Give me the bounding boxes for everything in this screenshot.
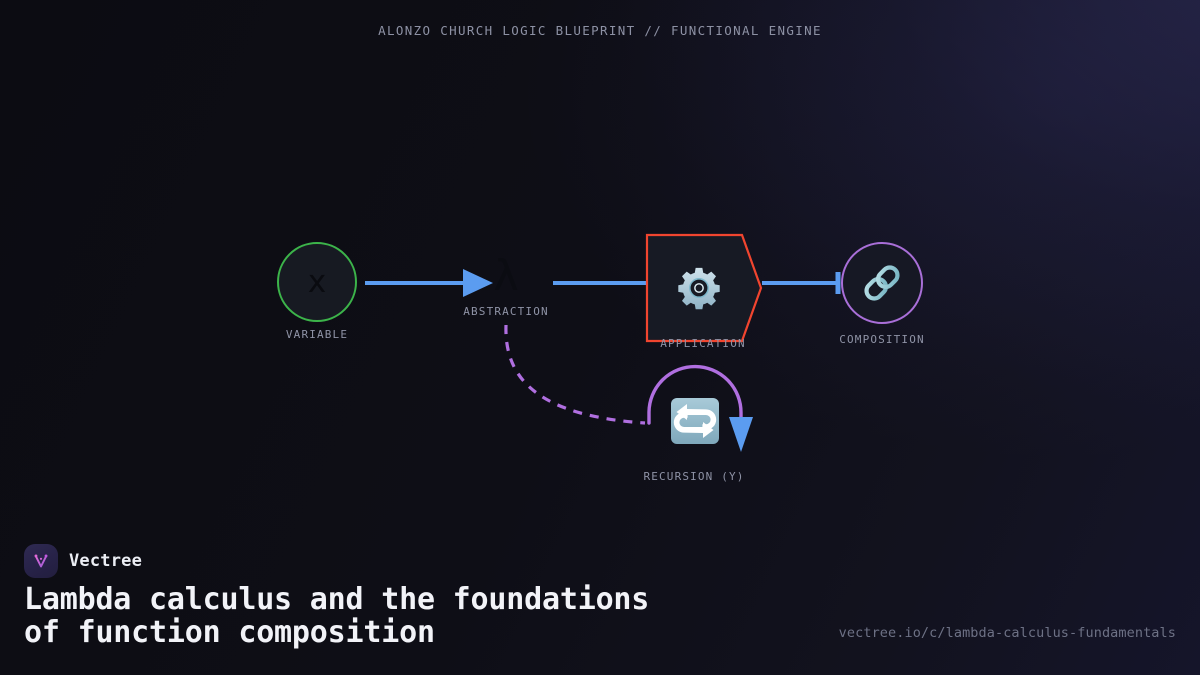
header-strip: ALONZO CHURCH LOGIC BLUEPRINT // FUNCTIO… — [0, 0, 1200, 60]
swap-arrows-icon — [670, 398, 720, 445]
node-recursion-label: RECURSION (Y) — [643, 470, 744, 483]
source-url[interactable]: vectree.io/c/lambda-calculus-fundamental… — [839, 625, 1176, 641]
variable-glyph: x — [308, 267, 326, 298]
brand-name: Vectree — [69, 551, 142, 571]
node-abstraction[interactable]: λ — [489, 250, 523, 302]
node-variable[interactable]: x — [277, 242, 357, 322]
connector-abstraction-to-recursion — [506, 325, 645, 423]
brand-row[interactable]: Vectree — [24, 544, 142, 578]
node-composition[interactable] — [841, 242, 923, 324]
node-composition-label: COMPOSITION — [839, 333, 925, 346]
vectree-logo-glyph — [30, 550, 52, 572]
lambda-icon: λ — [494, 255, 519, 297]
blueprint-title: ALONZO CHURCH LOGIC BLUEPRINT // FUNCTIO… — [378, 23, 822, 38]
gear-icon — [676, 265, 722, 311]
vectree-logo-icon — [24, 544, 58, 578]
node-application-label: APPLICATION — [660, 337, 746, 350]
connector-variable-to-abstraction — [365, 269, 493, 297]
footer: Vectree Lambda calculus and the foundati… — [0, 510, 1200, 675]
diagram-connectors — [0, 60, 1200, 510]
node-application[interactable] — [645, 233, 763, 343]
screenshot-root: ALONZO CHURCH LOGIC BLUEPRINT // FUNCTIO… — [0, 0, 1200, 675]
diagram-canvas: x VARIABLE λ ABSTRACTION APPLICATION — [0, 60, 1200, 510]
headline: Lambda calculus and the foundations of f… — [24, 584, 824, 649]
connector-application-to-composition — [762, 272, 839, 294]
node-abstraction-label: ABSTRACTION — [463, 305, 549, 318]
link-icon — [859, 260, 905, 306]
node-recursion[interactable] — [648, 365, 744, 445]
node-variable-label: VARIABLE — [286, 328, 348, 341]
